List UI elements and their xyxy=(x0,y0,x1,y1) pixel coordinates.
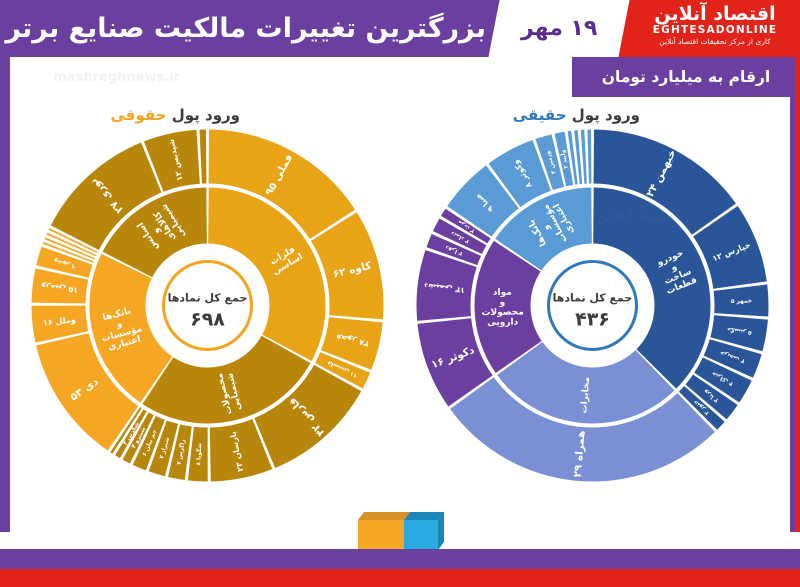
cube-left-top xyxy=(358,512,410,520)
bottom-purple-bar xyxy=(0,549,800,569)
hub-background xyxy=(537,250,649,362)
sunburst-outer-label: وآیند ۲ xyxy=(558,149,570,170)
heading-prefix-hoghooghi: ورود پول xyxy=(172,106,240,124)
hub-label: جمع کل نمادها xyxy=(168,292,248,305)
sunburst-outer-slice[interactable] xyxy=(200,130,207,184)
page-title: بزرگترین تغییرات مالکیت صنایع برتر xyxy=(5,13,486,44)
hub-value: ۴۳۶ xyxy=(575,309,610,331)
date-badge: ۱۹ مهر xyxy=(488,0,629,57)
hub-value: ۶۹۸ xyxy=(190,309,225,331)
site-logo[interactable]: اقتصاد آنلاین EGHTESADONLINE کاری از مرک… xyxy=(630,0,800,57)
legend-cube xyxy=(352,508,448,552)
title-banner: بزرگترین تغییرات مالکیت صنایع برتر xyxy=(0,0,500,57)
cube-right-face xyxy=(404,520,438,550)
sunburst-outer-slice[interactable] xyxy=(581,130,587,184)
heading-accent-haghighi: حقیقی xyxy=(513,106,567,124)
left-purple-rail xyxy=(0,57,10,532)
heading-accent-hoghooghi: حقوقی xyxy=(110,106,166,124)
chart-heading-haghighi: ورود پول حقیقی xyxy=(513,106,640,124)
chart-heading-hoghooghi: ورود پول حقوقی xyxy=(110,106,240,124)
bottom-red-bar xyxy=(0,569,800,587)
date-text: ۱۹ مهر xyxy=(521,16,597,41)
cube-right-top xyxy=(404,512,444,520)
right-red-rail xyxy=(795,0,800,532)
sunburst-chart-haghighi[interactable]: خودرووساختقطعاتخبهمن ۲۴خپارس ۱۲خمهر ۵خگس… xyxy=(415,128,770,483)
sunburst-chart-hoghooghi[interactable]: فلزاتاساسیفملی ۹۵کاوه ۶۲فخوز ۲۸فاسمین ۱۱… xyxy=(30,128,385,483)
cube-left-face xyxy=(358,520,404,550)
logo-subtitle: کاری از مرکز تحقیقات اقتصاد آنلاین xyxy=(630,36,800,47)
logo-farsi-text: اقتصاد آنلاین xyxy=(630,4,800,24)
sunburst-outer-slice[interactable] xyxy=(587,130,591,184)
heading-prefix-haghighi: ورود پول xyxy=(572,106,640,124)
hub-background xyxy=(152,250,264,362)
unit-note: ارقام به میلیارد تومان xyxy=(572,57,800,97)
logo-latin-text: EGHTESADONLINE xyxy=(630,24,800,36)
hub-label: جمع کل نمادها xyxy=(553,292,633,305)
sunburst-outer-label: خمهر ۵ xyxy=(731,298,752,305)
